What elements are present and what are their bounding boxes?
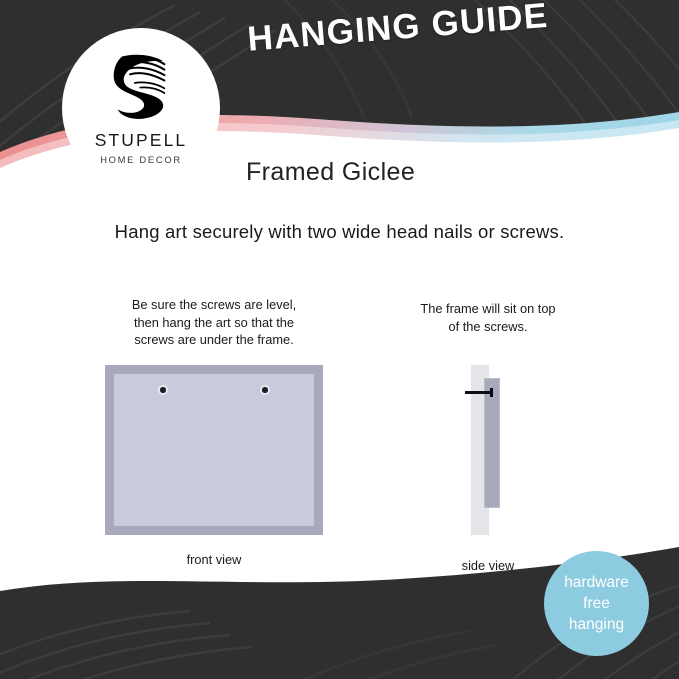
- screw-marker-right: [262, 387, 268, 393]
- badge-line-3: hanging: [569, 614, 624, 635]
- screw-marker-left: [160, 387, 166, 393]
- badge-line-1: hardware: [564, 572, 629, 593]
- front-caption-line-2: then hang the art so that the: [95, 314, 333, 332]
- logo-tagline: HOME DECOR: [100, 154, 182, 165]
- front-view-label: front view: [105, 552, 323, 567]
- swoosh-icon: [102, 46, 180, 126]
- screw-shaft-icon: [465, 391, 492, 394]
- side-view-diagram: [460, 363, 520, 538]
- badge-line-2: free: [583, 593, 610, 614]
- front-caption-line-1: Be sure the screws are level,: [95, 296, 333, 314]
- side-caption-line-1: The frame will sit on top: [392, 300, 584, 318]
- brand-logo-badge: STUPELL HOME DECOR: [62, 28, 220, 188]
- hanging-guide-page: STUPELL HOME DECOR HANGING GUIDE Framed …: [0, 0, 679, 679]
- side-caption-line-2: of the screws.: [392, 318, 584, 336]
- hardware-free-badge: hardware free hanging: [544, 551, 649, 656]
- page-title: HANGING GUIDE: [246, 0, 550, 60]
- frame-cross-section-edge: [484, 378, 500, 508]
- front-caption-line-3: screws are under the frame.: [95, 331, 333, 349]
- front-view-caption: Be sure the screws are level, then hang …: [95, 296, 333, 349]
- intro-instruction: Hang art securely with two wide head nai…: [0, 221, 679, 243]
- front-view-diagram: [105, 365, 323, 535]
- frame-artwork-area: [114, 374, 314, 526]
- side-view-label: side view: [420, 558, 556, 573]
- side-view-caption: The frame will sit on top of the screws.: [392, 300, 584, 335]
- logo-brand-name: STUPELL: [95, 130, 188, 151]
- screw-head-icon: [490, 388, 493, 397]
- product-type-subtitle: Framed Giclee: [246, 158, 415, 187]
